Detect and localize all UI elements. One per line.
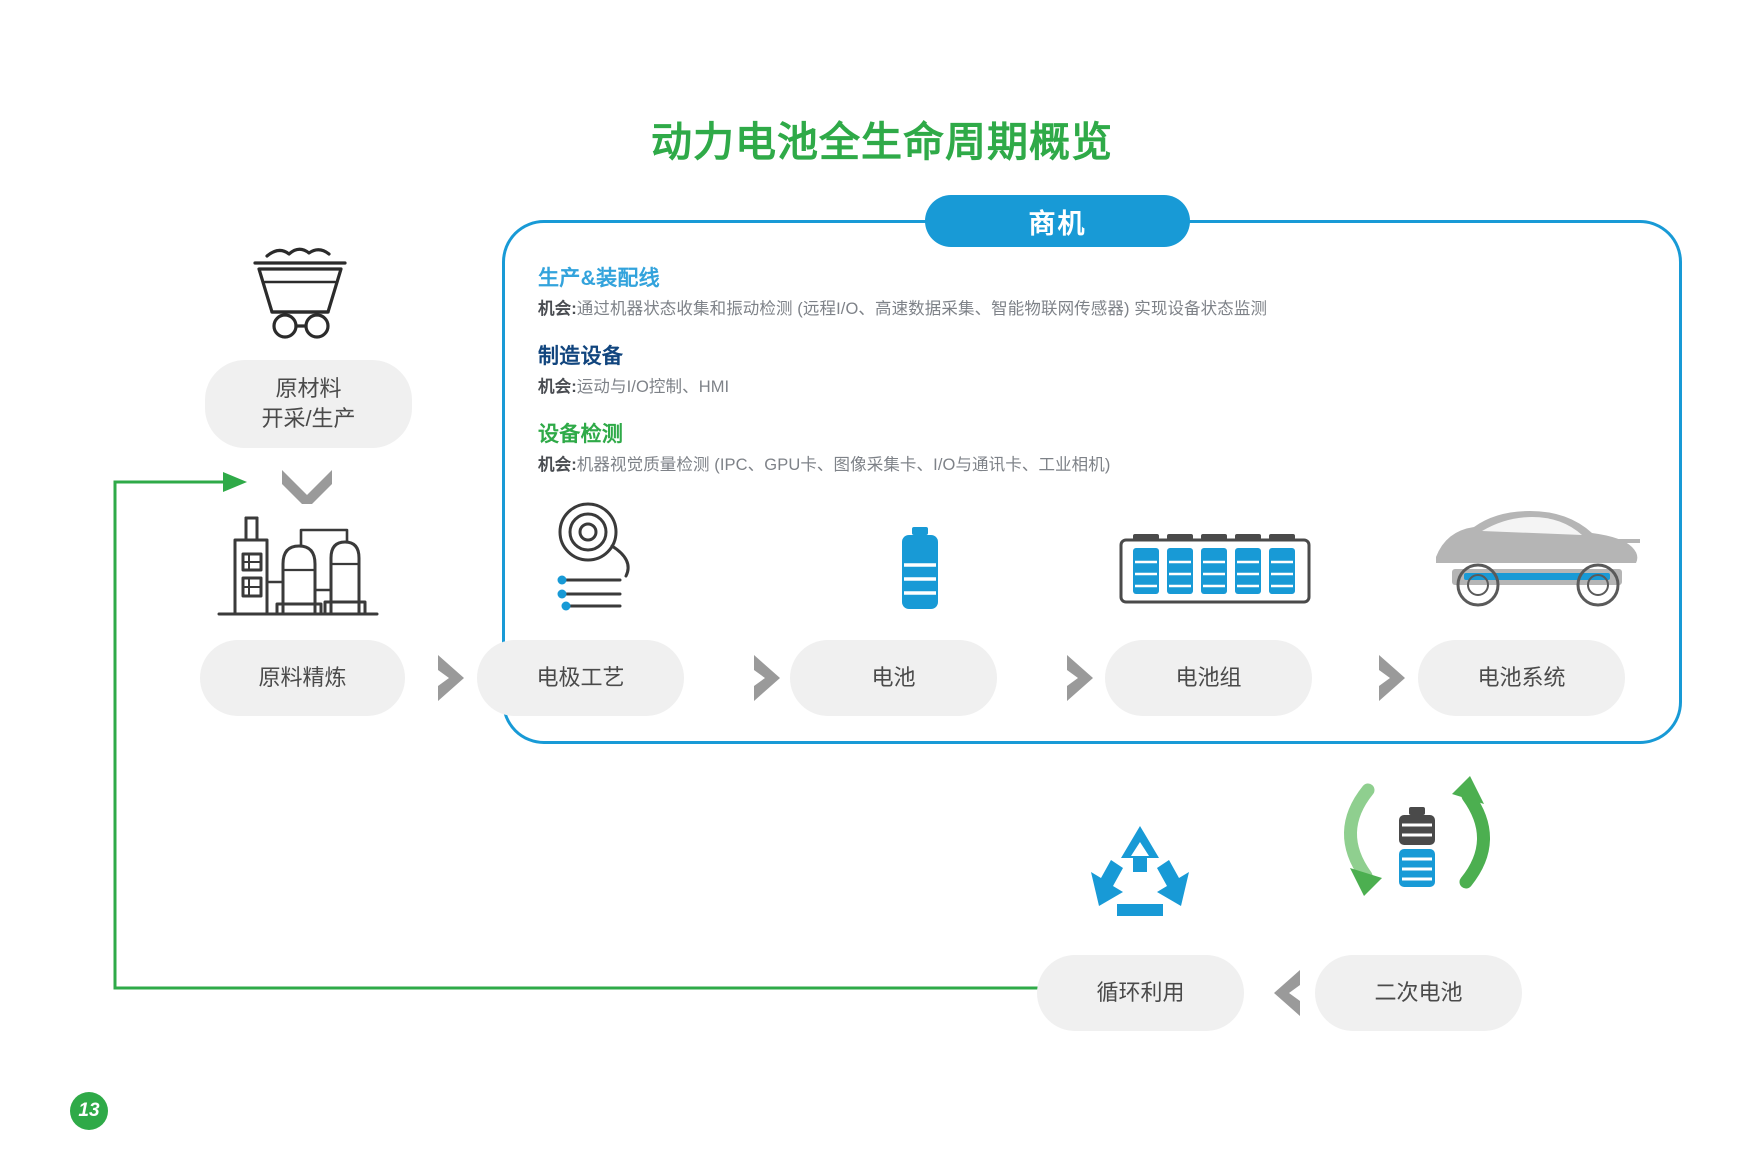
- stage-label: 电池系统: [1477, 663, 1565, 693]
- opportunity-list: 生产&装配线 机会:通过机器状态收集和振动检测 (远程I/O、高速数据采集、智能…: [538, 262, 1648, 496]
- factory-icon: [205, 500, 390, 625]
- opportunity-heading: 生产&装配线: [538, 262, 1648, 292]
- opportunity-item: 设备检测 机会:机器视觉质量检测 (IPC、GPU卡、图像采集卡、I/O与通讯卡…: [538, 418, 1648, 475]
- stage-pill-system[interactable]: 电池系统: [1418, 640, 1625, 716]
- stage-pill-refining[interactable]: 原料精炼: [200, 640, 405, 716]
- battery-pack-icon: [1115, 530, 1315, 625]
- stage-label-line2: 开采/生产: [261, 404, 355, 434]
- chevron-right-icon-4: [1375, 653, 1409, 703]
- opportunity-heading: 设备检测: [538, 418, 1648, 448]
- battery-cell-icon: [875, 525, 965, 625]
- stage-label: 二次电池: [1374, 978, 1462, 1008]
- stage-label: 原料精炼: [258, 663, 346, 693]
- chevron-left-icon: [1270, 968, 1304, 1018]
- ev-car-icon: [1412, 495, 1652, 625]
- down-chevron-icon: [280, 468, 334, 504]
- opportunity-body: 运动与I/O控制、HMI: [577, 378, 729, 396]
- stage-label: 电池组: [1175, 663, 1241, 693]
- chevron-right-icon-1: [434, 653, 468, 703]
- stage-label-line1: 原材料: [261, 374, 355, 404]
- opportunity-text: 机会:运动与I/O控制、HMI: [538, 373, 1648, 397]
- second-life-battery-icon: [1375, 805, 1461, 905]
- stage-pill-raw-material[interactable]: 原材料 开采/生产: [205, 360, 412, 448]
- page-number-badge: 13: [70, 1092, 108, 1130]
- recycle-icon: [1085, 820, 1195, 925]
- stage-pill-second-life[interactable]: 二次电池: [1315, 955, 1522, 1031]
- opportunity-item: 生产&装配线 机会:通过机器状态收集和振动检测 (远程I/O、高速数据采集、智能…: [538, 262, 1648, 319]
- stage-label: 电极工艺: [536, 663, 624, 693]
- mining-cart-icon: [215, 230, 385, 340]
- page-title: 动力电池全生命周期概览: [0, 108, 1764, 168]
- stage-pill-electrode[interactable]: 电极工艺: [477, 640, 684, 716]
- slide-canvas: 动力电池全生命周期概览 商机 生产&装配线 机会:通过机器状态收集和振动检测 (…: [0, 0, 1764, 1172]
- opportunity-label: 机会:: [538, 378, 577, 396]
- stage-label: 电池: [871, 663, 915, 693]
- opportunity-text: 机会:通过机器状态收集和振动检测 (远程I/O、高速数据采集、智能物联网传感器)…: [538, 295, 1648, 319]
- opportunity-body: 通过机器状态收集和振动检测 (远程I/O、高速数据采集、智能物联网传感器) 实现…: [577, 300, 1267, 318]
- opportunity-item: 制造设备 机会:运动与I/O控制、HMI: [538, 340, 1648, 397]
- stage-pill-cell[interactable]: 电池: [790, 640, 997, 716]
- chevron-right-icon-2: [750, 653, 784, 703]
- opportunity-label: 机会:: [538, 300, 577, 318]
- chevron-right-icon-3: [1063, 653, 1097, 703]
- status-badge: 商机: [925, 195, 1190, 247]
- stage-pill-module[interactable]: 电池组: [1105, 640, 1312, 716]
- opportunity-heading: 制造设备: [538, 340, 1648, 370]
- stage-label: 循环利用: [1096, 978, 1184, 1008]
- electrode-roll-icon: [540, 500, 670, 625]
- stage-pill-recycle[interactable]: 循环利用: [1037, 955, 1244, 1031]
